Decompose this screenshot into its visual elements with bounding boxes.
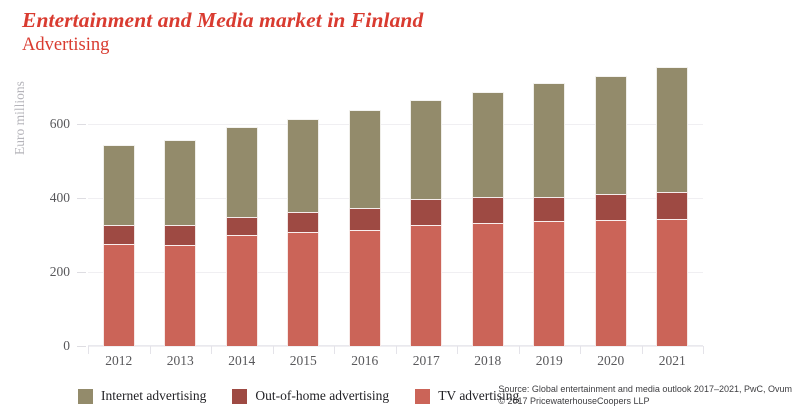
bar-segment[interactable] [472, 223, 504, 346]
y-tick-mark [77, 198, 86, 199]
y-tick-label: 400 [10, 190, 70, 206]
bar-segment[interactable] [410, 100, 442, 199]
source-note: Source: Global entertainment and media o… [498, 384, 792, 407]
y-tick-mark [77, 124, 86, 125]
legend-item[interactable]: Out-of-home advertising [232, 388, 389, 404]
legend-swatch-icon [78, 389, 93, 404]
bar-segment[interactable] [349, 230, 381, 346]
bar-segment[interactable] [533, 83, 565, 197]
y-tick-label: 0 [10, 338, 70, 354]
y-tick-label: 200 [10, 264, 70, 280]
bar-segment[interactable] [656, 219, 688, 346]
bar-segment[interactable] [226, 235, 258, 346]
source-line-2: © 2017 PricewaterhouseCoopers LLP [498, 396, 792, 408]
bar-segment[interactable] [472, 197, 504, 223]
x-tick-label: 2019 [517, 353, 581, 369]
bar-stack[interactable] [410, 100, 442, 346]
bar-stack[interactable] [349, 110, 381, 346]
bar-stack[interactable] [533, 83, 565, 346]
bar-segment[interactable] [226, 127, 258, 217]
bar-segment[interactable] [349, 110, 381, 208]
bar-segment[interactable] [410, 225, 442, 346]
chart-legend: Internet advertisingOut-of-home advertis… [78, 387, 545, 405]
bar-segment[interactable] [287, 232, 319, 346]
bar-stack[interactable] [226, 127, 258, 346]
page-title: Entertainment and Media market in Finlan… [22, 8, 742, 33]
bar-segment[interactable] [472, 92, 504, 197]
bar-segment[interactable] [226, 217, 258, 235]
bar-segment[interactable] [533, 221, 565, 346]
bar-stack[interactable] [103, 145, 135, 346]
x-tick-label: 2018 [456, 353, 520, 369]
x-tick-label: 2021 [640, 353, 704, 369]
bar-stack[interactable] [595, 76, 627, 346]
x-tick-label: 2015 [271, 353, 335, 369]
bar-stack[interactable] [472, 92, 504, 346]
source-line-1: Source: Global entertainment and media o… [498, 384, 792, 396]
bar-stack[interactable] [164, 140, 196, 346]
bar-segment[interactable] [103, 244, 135, 346]
y-tick-label: 600 [10, 116, 70, 132]
bar-stack[interactable] [656, 67, 688, 346]
x-tick-label: 2013 [148, 353, 212, 369]
x-tick-label: 2017 [394, 353, 458, 369]
bar-segment[interactable] [164, 245, 196, 346]
legend-label: Internet advertising [101, 388, 206, 404]
bar-segment[interactable] [103, 145, 135, 226]
x-tick-label: 2012 [87, 353, 151, 369]
title-block: Entertainment and Media market in Finlan… [22, 8, 742, 56]
x-tick-label: 2014 [210, 353, 274, 369]
bar-segment[interactable] [410, 199, 442, 225]
x-tick-label: 2016 [333, 353, 397, 369]
bar-segment[interactable] [349, 208, 381, 230]
x-tick-label: 2020 [579, 353, 643, 369]
y-tick-mark [77, 272, 86, 273]
bar-segment[interactable] [595, 76, 627, 195]
legend-item[interactable]: Internet advertising [78, 388, 206, 404]
bar-segment[interactable] [656, 192, 688, 218]
bar-stack[interactable] [287, 119, 319, 346]
plot-area: 0200400600 [88, 50, 703, 346]
bar-segment[interactable] [164, 225, 196, 246]
bar-segment[interactable] [533, 197, 565, 221]
bar-segment[interactable] [595, 194, 627, 220]
chart-container: Entertainment and Media market in Finlan… [0, 0, 800, 418]
bar-segment[interactable] [287, 212, 319, 232]
bar-segment[interactable] [595, 220, 627, 346]
legend-label: Out-of-home advertising [255, 388, 389, 404]
bar-segment[interactable] [103, 225, 135, 243]
bar-segment[interactable] [164, 140, 196, 224]
y-tick-mark [77, 346, 86, 347]
bar-segment[interactable] [656, 67, 688, 192]
bar-segment[interactable] [287, 119, 319, 212]
x-axis: 2012201320142015201620172018201920202021 [88, 346, 703, 370]
legend-swatch-icon [232, 389, 247, 404]
legend-swatch-icon [415, 389, 430, 404]
